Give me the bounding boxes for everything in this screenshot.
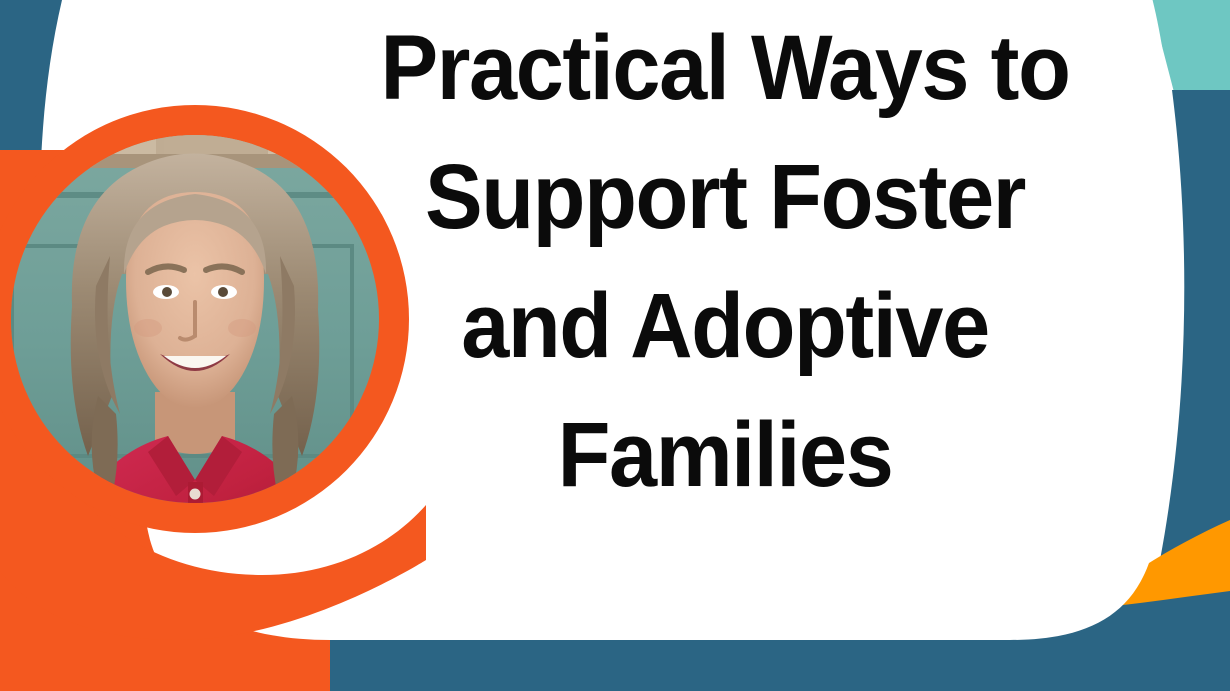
title-line-1: Practical Ways to [354,4,1097,133]
photo-button-1 [190,489,201,500]
title-line-3: and Adoptive [354,262,1097,391]
title-line-4: Families [354,391,1097,520]
page-title: Practical Ways to Support Foster and Ado… [330,4,1120,520]
photo-cheek-right [228,319,256,337]
title-line-2: Support Foster [354,133,1097,262]
photo-iris-left [162,287,172,297]
photo-iris-right [218,287,228,297]
photo-cheek-left [134,319,162,337]
thumbnail-canvas: Practical Ways to Support Foster and Ado… [0,0,1230,691]
portrait-avatar [0,96,418,542]
portrait-illustration [0,96,418,542]
